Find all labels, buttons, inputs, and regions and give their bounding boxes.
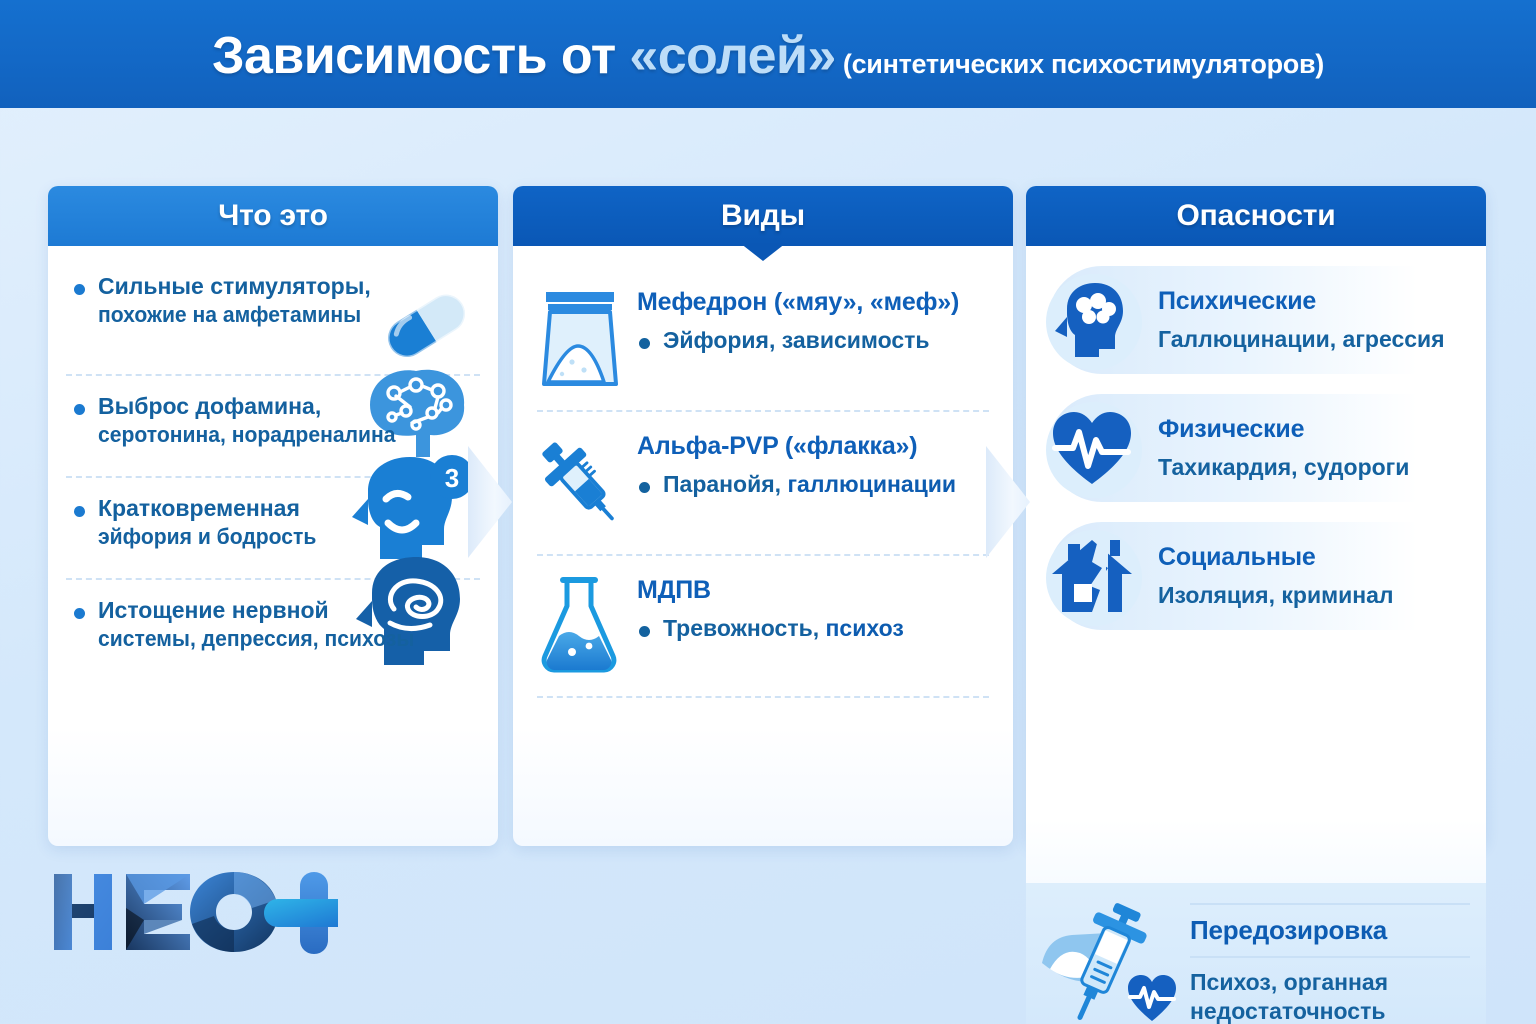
card-types: Виды Мефедрон («мяу», «меф») [513,186,1013,846]
flask-icon [537,570,623,678]
list-item[interactable]: Социальные Изоляция, криминал [1040,514,1472,638]
arrow-connector-1 [468,446,528,558]
type-subtext: Паранойя, галлюцинации [637,471,989,498]
divider [1190,956,1470,958]
broken-house-icon [1040,524,1144,628]
overdose-title: Передозировка [1190,915,1470,946]
danger-title: Социальные [1158,543,1472,572]
bullet-dot-icon [639,338,650,349]
divider [537,696,989,698]
bullet-dot-icon [74,608,85,619]
card-header-what-it-is: Что это [48,186,498,246]
type-subtext: Тревожность, психоз [637,615,989,642]
type-title: Мефедрон («мяу», «меф») [637,288,989,317]
list-item-text: Кратковременная эйфория и бодрость [68,494,478,552]
list-item[interactable]: МДПВ Тревожность, психоз [537,554,989,696]
list-item-line1: Сильные стимуляторы, [98,272,478,301]
list-item-text: Альфа-PVP («флакка») Паранойя, галлюцина… [637,426,989,498]
danger-title: Психические [1158,287,1472,316]
list-item-text: Сильные стимуляторы, похожие на амфетами… [68,272,478,330]
type-subtext-plain: Тревожность, [663,615,826,641]
overdose-block[interactable]: Передозировка Психоз, органная недостато… [1026,883,1486,1024]
list-item-text: Мефедрон («мяу», «меф») Эйфория, зависим… [637,282,989,354]
dangers-list: Психические Галлюцинации, агрессия Физич… [1026,246,1486,642]
type-title: Альфа-PVP («флакка») [637,432,989,461]
card-title-types: Виды [721,199,805,233]
list-item-text: Выброс дофамина, серотонина, норадренали… [68,392,478,450]
overdose-subtext: Психоз, органная недостаточность [1190,968,1470,1024]
heart-pulse-icon [1040,396,1144,500]
list-item-text: Физические Тахикардия, судороги [1158,415,1472,481]
type-subtext-plain: Паранойя, [663,471,787,497]
card-what-it-is: Что это Сильные стимуляторы, похожие на … [48,186,498,846]
title-subtitle: (синтетических психостимуляторов) [836,49,1324,79]
page-title: Зависимость от «солей» (синтетических пс… [212,30,1324,82]
list-item-line2: эйфория и бодрость [98,523,463,551]
divider [1190,903,1470,905]
types-list: Мефедрон («мяу», «меф») Эйфория, зависим… [513,246,1013,698]
type-subtext-bold: галлюцинации [787,471,956,497]
bullet-dot-icon [639,626,650,637]
list-item[interactable]: Физические Тахикардия, судороги [1040,386,1472,510]
neo-plus-logo[interactable] [48,868,338,960]
list-item-line1: Выброс дофамина, [98,392,478,421]
list-item[interactable]: Сильные стимуляторы, похожие на амфетами… [66,272,480,374]
list-item[interactable]: Мефедрон («мяу», «меф») Эйфория, зависим… [537,268,989,410]
list-item-line2: серотонина, норадреналина [98,421,463,449]
title-quoted: «солей» [629,27,835,85]
danger-subtext: Тахикардия, судороги [1158,454,1472,481]
card-dangers: Опасности Психические Галлюцинации [1026,186,1486,846]
danger-subtext: Галлюцинации, агрессия [1158,326,1472,353]
title-main: Зависимость от [212,27,629,85]
type-subtext-label: Эйфория, зависимость [663,327,930,353]
danger-title: Физические [1158,415,1472,444]
type-subtext-bold: психоз [826,615,904,641]
list-item[interactable]: Альфа-PVP («флакка») Паранойя, галлюцина… [537,410,989,554]
overdose-text: Передозировка Психоз, органная недостато… [1190,901,1470,1024]
danger-subtext: Изоляция, криминал [1158,582,1472,609]
card-title-what-it-is: Что это [218,199,327,233]
list-item-line2: системы, депрессия, психозы [98,625,463,653]
svg-text:3: 3 [445,463,459,493]
head-brain-icon [1040,268,1144,372]
card-header-types: Виды [513,186,1013,246]
type-subtext: Эйфория, зависимость [637,327,989,354]
what-it-is-list: Сильные стимуляторы, похожие на амфетами… [48,246,498,680]
bullet-dot-icon [74,404,85,415]
type-title: МДПВ [637,576,989,605]
card-title-dangers: Опасности [1177,199,1336,233]
overdose-subtext-line1: Психоз, органная [1190,968,1470,997]
list-item[interactable]: Истощение нервной системы, депрессия, пс… [66,578,480,680]
bullet-dot-icon [74,506,85,517]
powder-bag-icon [537,282,623,392]
overdose-icons [1034,899,1184,1024]
page-header: Зависимость от «солей» (синтетических пс… [0,0,1536,108]
list-item-line2: похожие на амфетамины [98,301,463,329]
card-header-dangers: Опасности [1026,186,1486,246]
list-item-text: Истощение нервной системы, депрессия, пс… [68,596,478,654]
overdose-subtext-line2: недостаточность [1190,997,1470,1024]
arrow-connector-2 [986,446,1046,558]
list-item-text: МДПВ Тревожность, психоз [637,570,989,642]
list-item-text: Социальные Изоляция, криминал [1158,543,1472,609]
list-item-line1: Истощение нервной [98,596,478,625]
syringe-icon [537,426,623,536]
bullet-dot-icon [639,482,650,493]
list-item-line1: Кратковременная [98,494,478,523]
list-item[interactable]: Психические Галлюцинации, агрессия [1040,258,1472,382]
bullet-dot-icon [74,284,85,295]
list-item-text: Психические Галлюцинации, агрессия [1158,287,1472,353]
